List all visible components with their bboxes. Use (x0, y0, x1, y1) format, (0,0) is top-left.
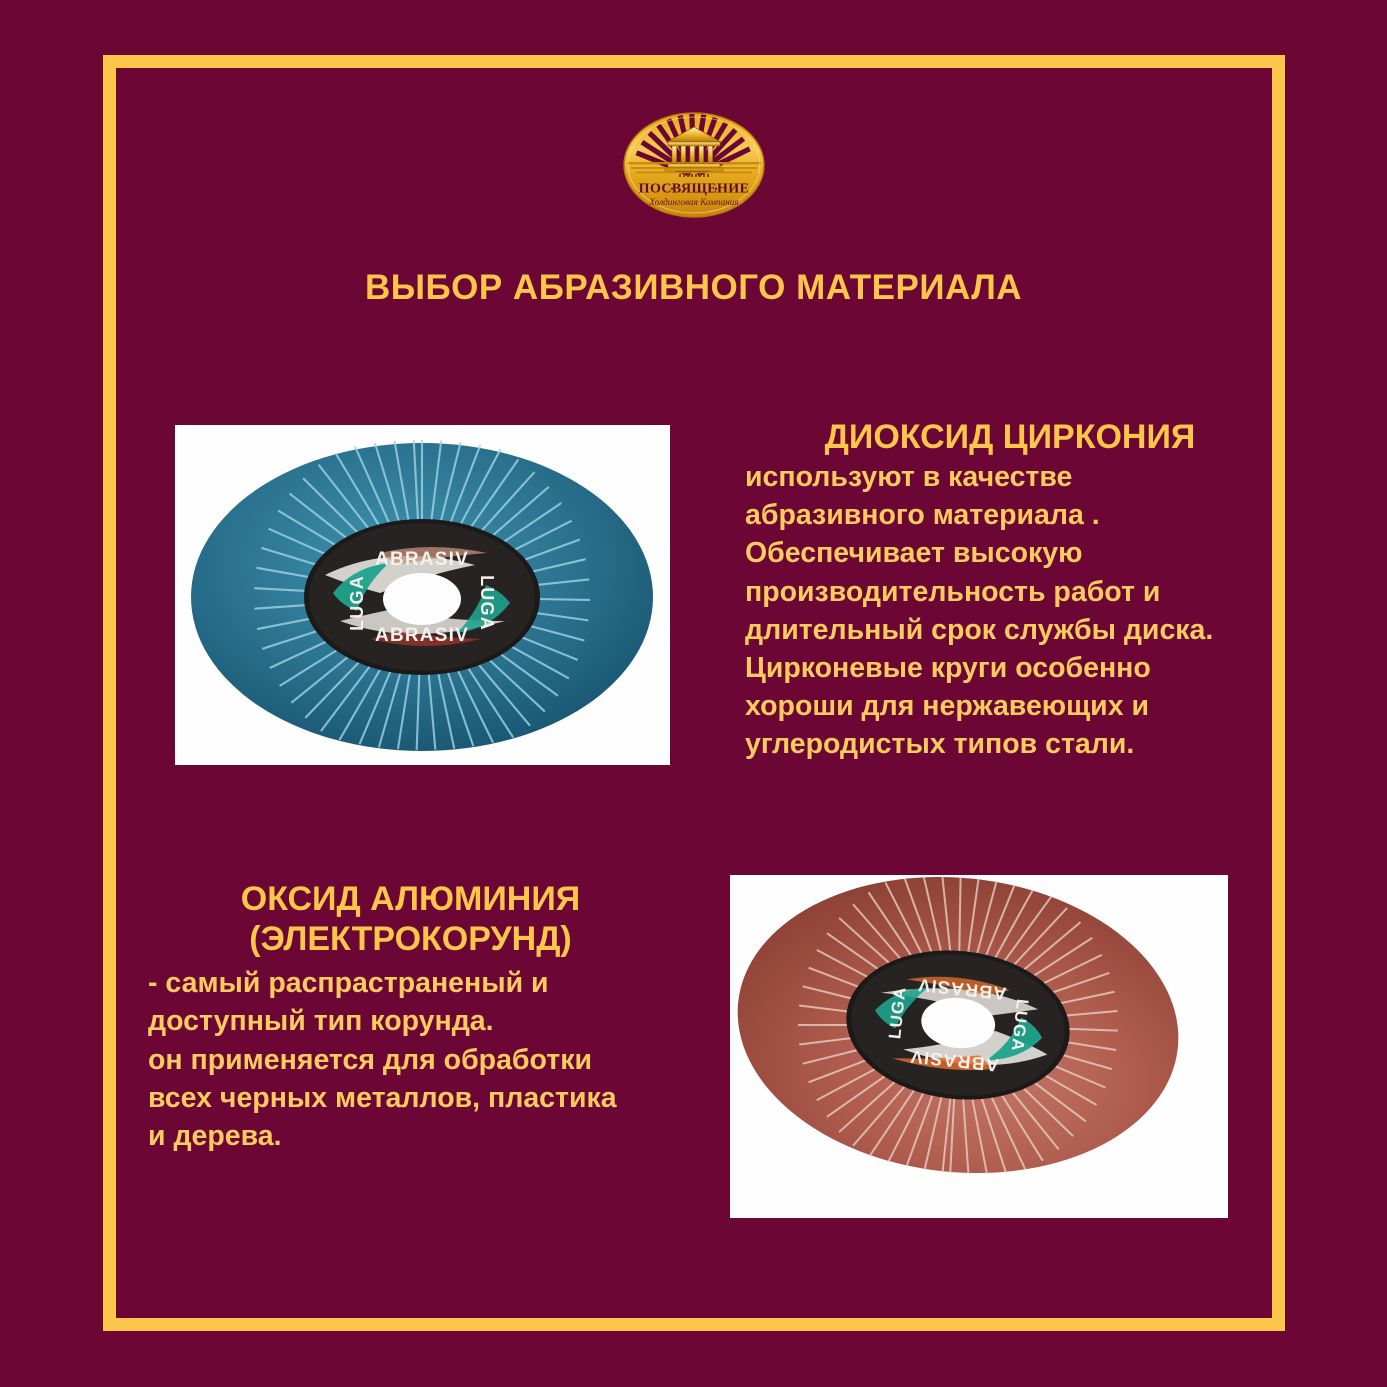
aluminium-oxide-text-block: ОКСИД АЛЮМИНИЯ (ЭЛЕКТРОКОРУНД) - самый р… (148, 880, 673, 1155)
logo-tagline: Холдинговая Компания (648, 197, 738, 207)
aluminium-oxide-heading-line2: (ЭЛЕКТРОКОРУНД) (148, 920, 673, 958)
zirconium-line-8: углеродистых типов стали. (745, 725, 1275, 763)
alox-line-2: доступный тип корунда. (148, 1002, 673, 1040)
zirconium-body: используют в качестве абразивного матери… (745, 458, 1275, 764)
zirconium-line-5: длительный срок службы диска. (745, 611, 1275, 649)
alox-line-4: всех черных металлов, пластика (148, 1079, 673, 1117)
zirconium-line-4: производительность работ и (745, 573, 1275, 611)
zirconium-line-7: хороши для нержавеющих и (745, 687, 1275, 725)
aluminium-oxide-body: - самый распрастраненый и доступный тип … (148, 964, 673, 1155)
aluminium-oxide-heading-line1: ОКСИД АЛЮМИНИЯ (148, 880, 673, 918)
disc-brand-top: ABRASIV (375, 549, 469, 570)
zirconium-line-2: абразивного материала . (745, 496, 1275, 534)
zirconium-text-block: ДИОКСИД ЦИРКОНИЯ используют в качестве а… (745, 418, 1275, 764)
zirconium-line-6: Цирконевые круги особенно (745, 649, 1275, 687)
disc-brand-bottom: ABRASIV (375, 625, 469, 646)
disc-brand-right: LUGA (477, 575, 497, 631)
alox-line-3: он применяется для обработки (148, 1041, 673, 1079)
company-logo: • ПОСВЯЩЕНИЕ • Холдинговая Компания (569, 110, 819, 220)
alox-line-1: - самый распрастраненый и (148, 964, 673, 1002)
page-title: ВЫБОР АБРАЗИВНОГО МАТЕРИАЛА (0, 268, 1387, 308)
logo-company-name: ПОСВЯЩЕНИЕ (638, 182, 749, 197)
disc-brand-left: LUGA (347, 575, 367, 631)
logo-right-dot: • (714, 185, 717, 195)
zirconium-disc-photo: ABRASIV ABRASIV LUGA LUGA (175, 425, 670, 765)
aluminium-oxide-disc-photo: ABRASIV ABRASIV LUGA LUGA (730, 875, 1228, 1218)
zirconium-heading: ДИОКСИД ЦИРКОНИЯ (745, 418, 1275, 456)
alox-line-5: и дерева. (148, 1117, 673, 1155)
zirconium-line-3: Обеспечивает высокую (745, 534, 1275, 572)
slide-canvas: • ПОСВЯЩЕНИЕ • Холдинговая Компания ВЫБО… (0, 0, 1387, 1387)
zirconium-line-1: используют в качестве (745, 458, 1275, 496)
